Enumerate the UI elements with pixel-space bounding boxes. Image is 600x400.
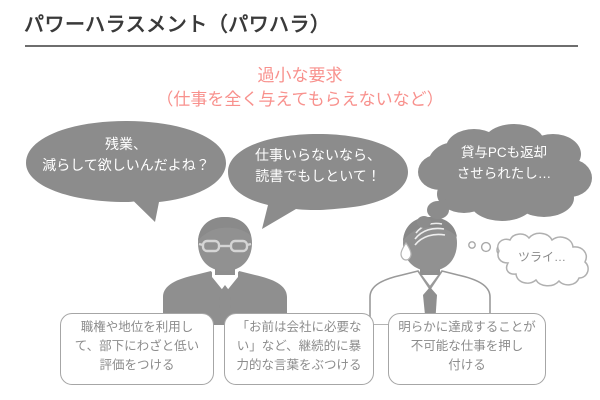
- caption-evaluation: 職権や地位を利用し て、部下にわざと低い 評価をつける: [60, 313, 214, 385]
- subtitle-line-2: （仕事を全く与えてもらえないなど）: [0, 88, 600, 112]
- bubble-boss-overtime-text: 残業、 減らして欲しいんだよね？: [22, 134, 230, 176]
- bubble-2-line-1: 仕事いらないなら、: [224, 145, 412, 166]
- bubble-3-line-1: 貸与PCも返却: [414, 142, 594, 163]
- subtitle-line-1: 過小な要求: [0, 64, 600, 88]
- caption-verbal-abuse: 「お前は会社に必要な い」など、継続的に暴 力的な言葉をぶつける: [224, 313, 374, 385]
- bubble-employee-tsurai-text: ツライ…: [486, 250, 598, 264]
- caption-1-line-3: 評価をつける: [63, 356, 211, 375]
- subtitle: 過小な要求 （仕事を全く与えてもらえないなど）: [0, 64, 600, 112]
- caption-3-line-1: 明らかに達成することが: [391, 318, 543, 337]
- caption-3-line-2: 不可能な仕事を押し: [391, 337, 543, 356]
- caption-1-line-1: 職権や地位を利用し: [63, 318, 211, 337]
- slide-canvas: パワーハラスメント（パワハラ） 過小な要求 （仕事を全く与えてもらえないなど）: [0, 0, 600, 400]
- bubble-boss-reading-text: 仕事いらないなら、 読書でもしといて！: [224, 145, 412, 187]
- caption-2-line-2: い」など、継続的に暴: [227, 337, 371, 356]
- bubble-1-line-1: 残業、: [22, 134, 230, 155]
- caption-3-line-3: 付ける: [391, 356, 543, 375]
- caption-2-line-1: 「お前は会社に必要な: [227, 318, 371, 337]
- caption-2-line-3: 力的な言葉をぶつける: [227, 356, 371, 375]
- figure-boss: [155, 215, 295, 325]
- title-underline: [25, 45, 578, 47]
- caption-impossible-task: 明らかに達成することが 不可能な仕事を押し 付ける: [388, 313, 546, 385]
- bubble-employee-pc-text: 貸与PCも返却 させられたし…: [414, 142, 594, 184]
- caption-1-line-2: て、部下にわざと低い: [63, 337, 211, 356]
- bubble-2-line-2: 読書でもしといて！: [224, 166, 412, 187]
- bubble-1-line-2: 減らして欲しいんだよね？: [22, 155, 230, 176]
- page-title: パワーハラスメント（パワハラ）: [24, 8, 331, 37]
- bubble-3-line-2: させられたし…: [414, 163, 594, 184]
